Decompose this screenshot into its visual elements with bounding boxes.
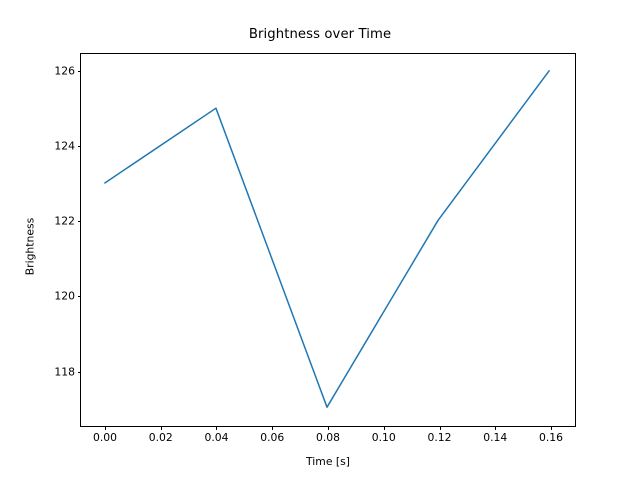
x-axis-tick-label: 0.06 [260, 431, 284, 444]
y-axis-tick-mark [78, 221, 82, 222]
y-axis-tick-mark [78, 296, 82, 297]
x-axis-tick-label: 0.16 [539, 431, 563, 444]
y-axis-tick-label: 126 [54, 64, 75, 77]
chart-title: Brightness over Time [0, 27, 640, 42]
x-axis-tick-label: 0.08 [316, 431, 340, 444]
x-axis-tick-label: 0.12 [427, 431, 451, 444]
x-axis-tick-label: 0.04 [204, 431, 228, 444]
matplotlib-figure: Brightness over Time 1181201221241260.00… [0, 0, 640, 480]
x-axis-tick-mark [216, 426, 217, 430]
x-axis-tick-mark [551, 426, 552, 430]
x-axis-tick-mark [105, 426, 106, 430]
x-axis-tick-mark [328, 426, 329, 430]
y-axis-tick-mark [78, 372, 82, 373]
x-axis-tick-label: 0.10 [372, 431, 396, 444]
y-axis-tick-mark [78, 146, 82, 147]
y-axis-tick-label: 118 [54, 365, 75, 378]
x-axis-tick-label: 0.14 [483, 431, 507, 444]
x-axis-tick-mark [272, 426, 273, 430]
y-axis-tick-label: 122 [54, 215, 75, 228]
x-axis-tick-mark [384, 426, 385, 430]
brightness-line-series [105, 71, 549, 407]
x-axis-tick-label: 0.02 [149, 431, 173, 444]
x-axis-label: Time [s] [80, 455, 576, 468]
y-axis-label: Brightness [24, 187, 37, 307]
x-axis-tick-mark [440, 426, 441, 430]
x-axis-tick-mark [495, 426, 496, 430]
y-axis-tick-label: 120 [54, 290, 75, 303]
x-axis-tick-mark [161, 426, 162, 430]
plot-axes-area: 1181201221241260.000.020.040.060.080.100… [80, 53, 576, 427]
y-axis-tick-mark [78, 71, 82, 72]
x-axis-tick-label: 0.00 [93, 431, 117, 444]
line-plot-svg [81, 54, 575, 426]
y-axis-tick-label: 124 [54, 140, 75, 153]
